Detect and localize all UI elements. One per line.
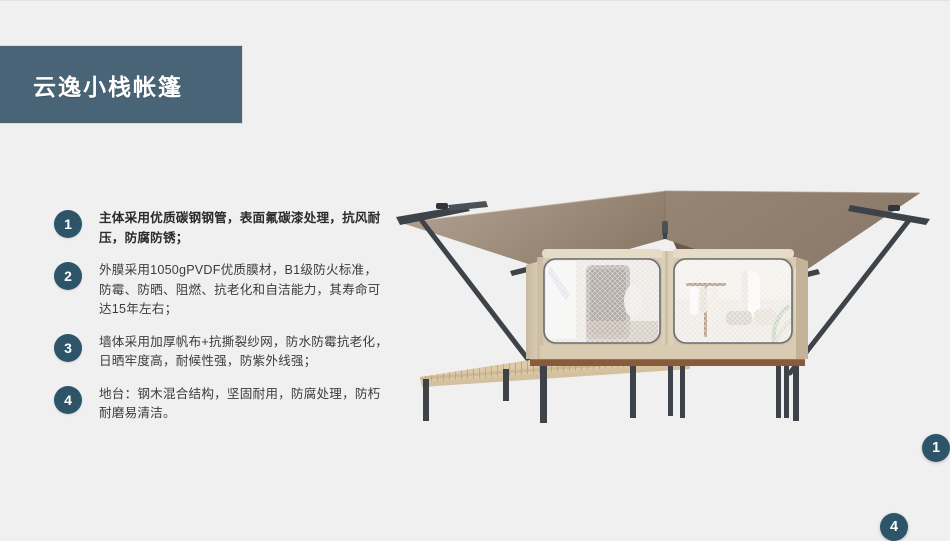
feature-badge-2: 2 xyxy=(54,262,82,290)
window-right xyxy=(672,249,794,345)
feature-badge-3: 3 xyxy=(54,334,82,362)
tent-illustration: 1 2 3 4 xyxy=(390,161,950,451)
list-item: 3 墙体采用加厚帆布+抗撕裂纱网，防水防霉抗老化，日晒牢度高，耐候性强，防紫外线… xyxy=(54,333,389,372)
feature-text-1: 主体采用优质碳钢钢管，表面氟碳漆处理，抗风耐压，防腐防锈； xyxy=(99,209,389,248)
window-left-valance xyxy=(542,249,662,258)
callout-badge-1[interactable]: 1 xyxy=(922,434,950,462)
page-title: 云逸小栈帐篷 xyxy=(33,68,183,102)
feature-text-4: 地台：钢木混合结构，坚固耐用，防腐处理，防朽耐磨易清洁。 xyxy=(99,385,389,424)
feature-badge-4: 4 xyxy=(54,386,82,414)
slide-page: 云逸小栈帐篷 1 主体采用优质碳钢钢管，表面氟碳漆处理，抗风耐压，防腐防锈； 2… xyxy=(0,0,950,534)
window-right-interior xyxy=(674,259,794,343)
wood-steel-deck xyxy=(420,357,805,387)
list-item: 1 主体采用优质碳钢钢管，表面氟碳漆处理，抗风耐压，防腐防锈； xyxy=(54,209,389,248)
feature-text-2: 外膜采用1050gPVDF优质膜材，B1级防火标准，防霉、防晒、阻燃、抗老化和自… xyxy=(99,261,389,320)
wall-base-skirt xyxy=(540,345,796,359)
tent-render-svg xyxy=(390,161,950,451)
window-left xyxy=(542,249,662,345)
window-left-interior xyxy=(544,259,660,343)
feature-list: 1 主体采用优质碳钢钢管，表面氟碳漆处理，抗风耐压，防腐防锈； 2 外膜采用10… xyxy=(54,209,389,437)
list-item: 4 地台：钢木混合结构，坚固耐用，防腐处理，防朽耐磨易清洁。 xyxy=(54,385,389,424)
callout-badge-4[interactable]: 4 xyxy=(880,513,908,541)
feature-badge-1: 1 xyxy=(54,210,82,238)
list-item: 2 外膜采用1050gPVDF优质膜材，B1级防火标准，防霉、防晒、阻燃、抗老化… xyxy=(54,261,389,320)
title-banner: 云逸小栈帐篷 xyxy=(0,45,243,124)
feature-text-3: 墙体采用加厚帆布+抗撕裂纱网，防水防霉抗老化，日晒牢度高，耐候性强，防紫外线强； xyxy=(99,333,389,372)
window-right-valance xyxy=(672,249,794,258)
